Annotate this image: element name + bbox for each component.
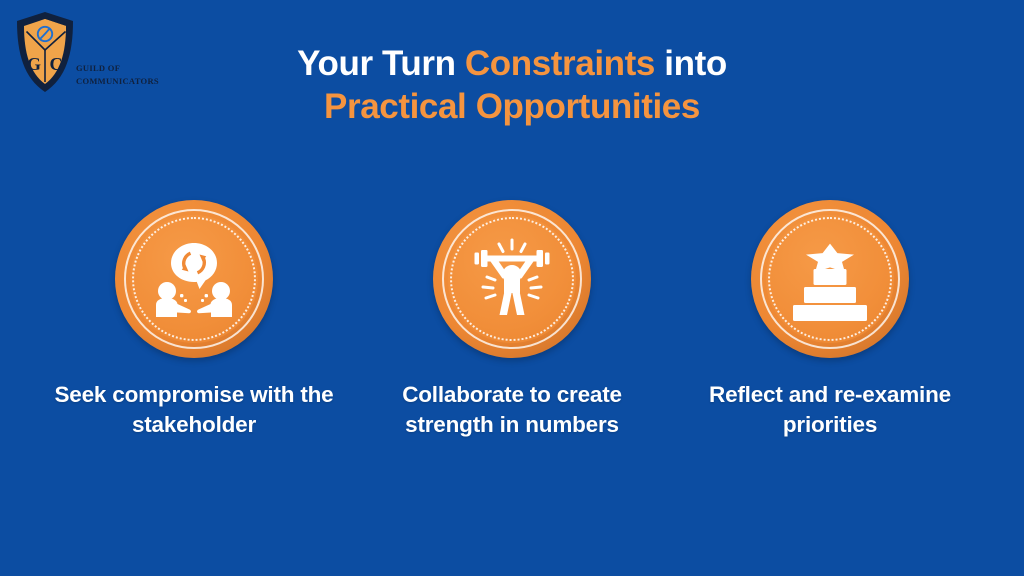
cards-row: Seek compromise with the stakeholder bbox=[0, 200, 1024, 440]
card-collaborate-strength: Collaborate to create strength in number… bbox=[353, 200, 671, 440]
page-title: Your Turn Constraints into Practical Opp… bbox=[0, 42, 1024, 128]
star-on-pyramid-icon bbox=[784, 237, 876, 321]
page-title-line-1: Your Turn Constraints into bbox=[0, 42, 1024, 85]
badge-2 bbox=[433, 200, 591, 358]
card-seek-compromise: Seek compromise with the stakeholder bbox=[35, 200, 353, 440]
page-title-line-2: Practical Opportunities bbox=[0, 85, 1024, 128]
title-accent-constraints: Constraints bbox=[465, 44, 655, 83]
card-2-label: Collaborate to create strength in number… bbox=[372, 380, 652, 440]
title-text-your-turn: Your Turn bbox=[297, 44, 465, 83]
person-lifting-barbell-icon bbox=[466, 237, 558, 321]
badge-3 bbox=[751, 200, 909, 358]
title-text-into: into bbox=[655, 44, 727, 83]
card-1-label: Seek compromise with the stakeholder bbox=[54, 380, 334, 440]
card-3-label: Reflect and re-examine priorities bbox=[690, 380, 970, 440]
card-reflect-priorities: Reflect and re-examine priorities bbox=[671, 200, 989, 440]
badge-1 bbox=[115, 200, 273, 358]
two-people-negotiating-icon bbox=[151, 239, 237, 319]
